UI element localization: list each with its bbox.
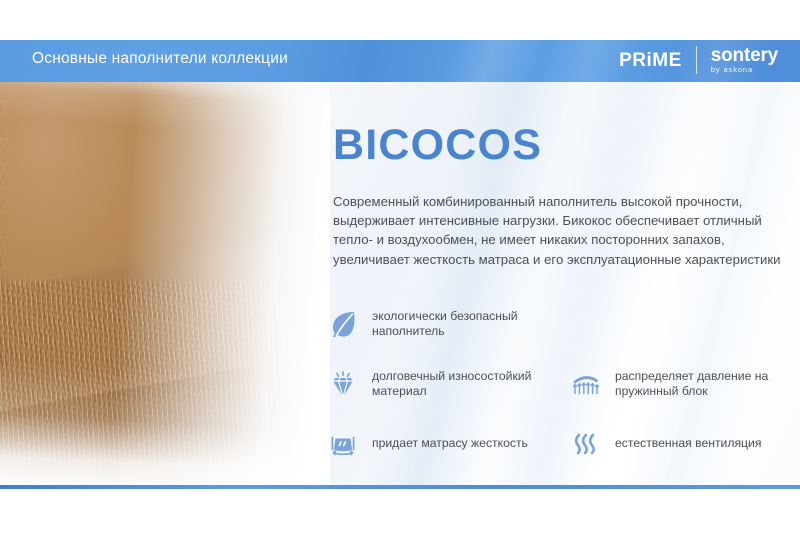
feature-item-ventilation: естественная вентиляция [569, 427, 799, 461]
logo-group: PRiME sontery by askona [619, 46, 778, 74]
leaf-icon [326, 307, 360, 341]
feature-item-pressure: распределяет давление на пружинный блок [569, 367, 799, 401]
feature-label-eco: экологически безопасный наполнитель [372, 309, 556, 340]
coconut-fibre-photo [0, 82, 330, 485]
footer-rule [0, 485, 800, 489]
feature-label-ventilation: естественная вентиляция [615, 436, 761, 451]
feature-label-firmness: придает матрасу жесткость [372, 436, 528, 451]
photo-fade-top [0, 82, 330, 485]
mattress-firmness-icon [326, 427, 360, 461]
logo-divider [696, 46, 697, 74]
feature-list: экологически безопасный наполнитель [326, 303, 796, 473]
diamond-icon [326, 367, 360, 401]
sontery-logo-tagline: by askona [711, 66, 778, 74]
feature-label-pressure: распределяет давление на пружинный блок [615, 369, 799, 400]
spring-block-icon [569, 367, 603, 401]
feature-item-durable: долговечный износостойкий материал [326, 367, 556, 401]
page-title: BICOCOS [333, 124, 542, 167]
slide: Основные наполнители коллекции PRiME son… [0, 0, 800, 533]
prime-logo: PRiME [619, 51, 682, 70]
feature-item-firmness: придает матрасу жесткость [326, 427, 566, 461]
sontery-logo-name: sontery [711, 46, 778, 65]
airflow-icon [569, 427, 603, 461]
feature-label-durable: долговечный износостойкий материал [372, 369, 556, 400]
header-title: Основные наполнители коллекции [32, 50, 288, 68]
sontery-logo: sontery by askona [711, 46, 778, 74]
feature-item-eco: экологически безопасный наполнитель [326, 307, 556, 341]
description-text: Современный комбинированный наполнитель … [333, 192, 785, 269]
